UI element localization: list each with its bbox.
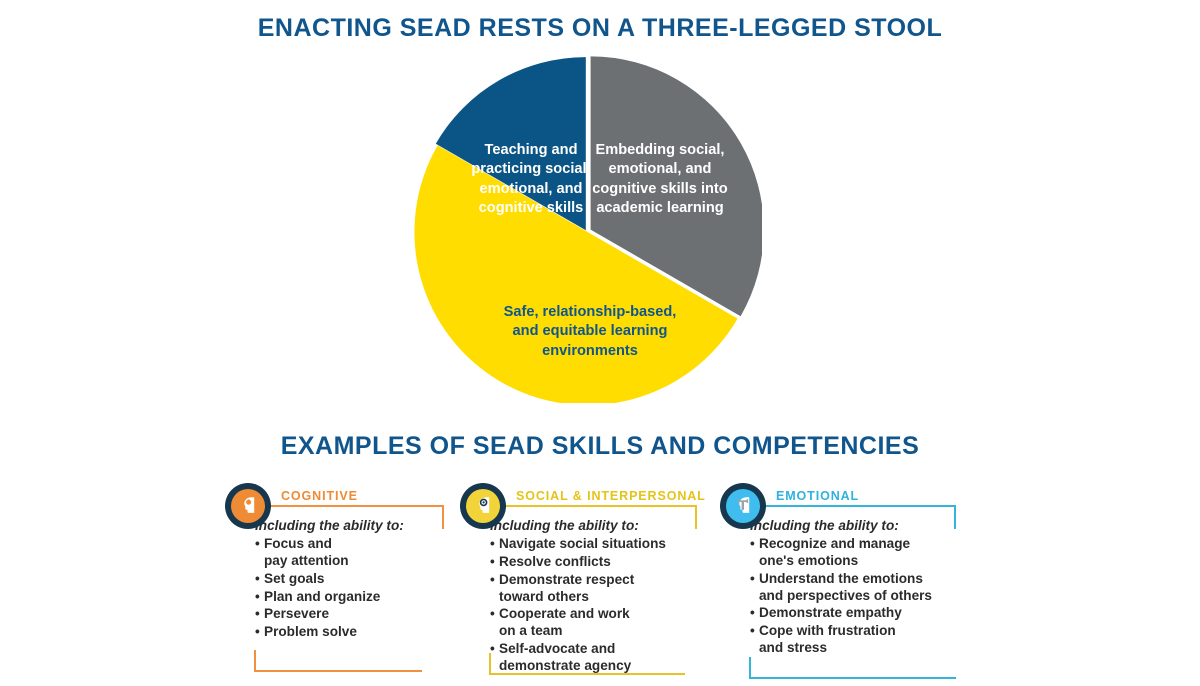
three-legged-stool-pie-chart: Teaching and practicing social, emotiona… [414, 55, 762, 403]
list-item: Persevere [255, 606, 470, 623]
pie-label-environments-line-2: environments [476, 342, 704, 361]
head-gear-icon [466, 489, 500, 523]
cognitive-badge [225, 483, 271, 529]
list-item: Understand the emotions and perspectives… [750, 571, 965, 605]
emotional-skill-0: Recognize and manage one's emotions [759, 536, 910, 568]
emotional-body: Including the ability to: Recognize and … [750, 518, 965, 658]
emotional-skill-2: Demonstrate empathy [759, 605, 902, 620]
cognitive-skill-list: Focus and pay attention Set goals Plan a… [255, 536, 470, 641]
cognitive-bracket-bottom [254, 650, 422, 672]
list-item: Set goals [255, 571, 470, 588]
competency-column-emotional: EMOTIONAL Including the ability to: Reco… [720, 480, 970, 680]
cognitive-skill-1: Set goals [264, 571, 324, 586]
list-item: Cooperate and work on a team [490, 606, 705, 640]
list-item: Recognize and manage one's emotions [750, 536, 965, 570]
cognitive-skill-4: Problem solve [264, 624, 357, 639]
social-badge [460, 483, 506, 529]
list-item: Demonstrate empathy [750, 605, 965, 622]
social-intro: Including the ability to: [490, 518, 705, 533]
emotional-skill-list: Recognize and manage one's emotions Unde… [750, 536, 965, 657]
list-item: Demonstrate respect toward others [490, 572, 705, 606]
social-title: SOCIAL & INTERPERSONAL [516, 489, 706, 503]
list-item: Navigate social situations [490, 536, 705, 553]
social-bracket-bottom [489, 653, 685, 675]
emotional-badge [720, 483, 766, 529]
list-item: Resolve conflicts [490, 554, 705, 571]
list-item: Plan and organize [255, 589, 470, 606]
pie-label-environments-line-1: and equitable learning [476, 322, 704, 341]
pie-label-embedding: Embedding social, emotional, and cogniti… [580, 141, 740, 218]
cognitive-body: Including the ability to: Focus and pay … [255, 518, 470, 642]
cognitive-title: COGNITIVE [281, 489, 358, 503]
head-heart-icon [726, 489, 760, 523]
competency-column-social: SOCIAL & INTERPERSONAL Including the abi… [460, 480, 710, 680]
pie-label-environments-line-0: Safe, relationship-based, [476, 303, 704, 322]
section-title-examples: EXAMPLES OF SEAD SKILLS AND COMPETENCIES [0, 432, 1200, 461]
emotional-title: EMOTIONAL [776, 489, 859, 503]
pie-label-embedding-line-2: cognitive skills into [580, 180, 740, 199]
pie-label-embedding-line-1: emotional, and [580, 160, 740, 179]
cognitive-intro: Including the ability to: [255, 518, 470, 533]
list-item: Problem solve [255, 624, 470, 641]
pie-label-environments: Safe, relationship-based, and equitable … [476, 303, 704, 361]
cognitive-skill-3: Persevere [264, 606, 329, 621]
emotional-skill-1: Understand the emotions and perspectives… [759, 571, 932, 603]
head-gear-icon [231, 489, 265, 523]
pie-label-embedding-line-3: academic learning [580, 199, 740, 218]
list-item: Cope with frustration and stress [750, 623, 965, 657]
cognitive-skill-0: Focus and pay attention [264, 536, 349, 568]
pie-label-embedding-line-0: Embedding social, [580, 141, 740, 160]
list-item: Focus and pay attention [255, 536, 470, 570]
emotional-intro: Including the ability to: [750, 518, 965, 533]
social-skill-1: Resolve conflicts [499, 554, 611, 569]
social-skill-3: Cooperate and work on a team [499, 606, 630, 638]
social-skill-0: Navigate social situations [499, 536, 666, 551]
cognitive-skill-2: Plan and organize [264, 589, 380, 604]
emotional-bracket-bottom [749, 657, 956, 679]
competency-column-cognitive: COGNITIVE Including the ability to: Focu… [225, 480, 475, 680]
page-title: ENACTING SEAD RESTS ON A THREE-LEGGED ST… [0, 14, 1200, 43]
emotional-skill-3: Cope with frustration and stress [759, 623, 896, 655]
social-skill-2: Demonstrate respect toward others [499, 572, 634, 604]
